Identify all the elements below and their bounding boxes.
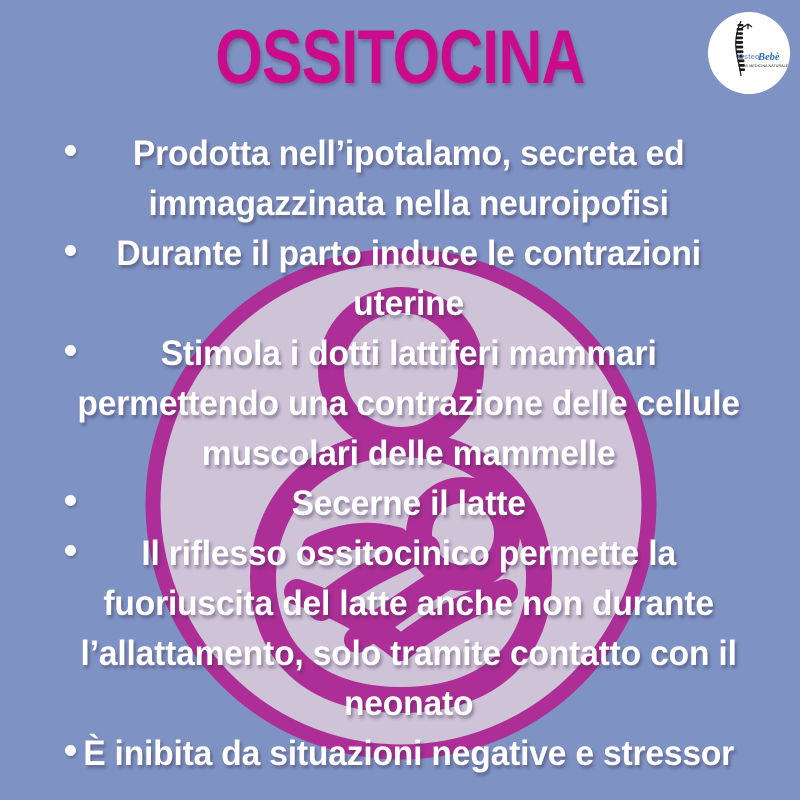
- list-item: Stimola i dotti lattiferi mammari permet…: [18, 329, 782, 479]
- list-item: Durante il parto induce le contrazioni u…: [18, 229, 782, 329]
- osteobebe-logo[interactable]: Osteo Bebè VIVI MEDICINA NATURALE: [708, 12, 790, 94]
- list-item: Secerne il latte: [18, 479, 782, 529]
- list-item-label: Il riflesso ossitocinico permette la fuo…: [33, 529, 766, 729]
- infographic-poster: Osteo Bebè VIVI MEDICINA NATURALE OSSITO…: [0, 0, 800, 800]
- list-item: È inibita da situazioni negative e stres…: [18, 729, 782, 779]
- page-title: OSSITOCINA: [80, 18, 720, 98]
- logo-wordmark-bebe: Bebè: [757, 52, 780, 63]
- logo-wordmark-osteo: Osteo: [738, 52, 760, 61]
- bullet-list: Prodotta nell’ipotalamo, secreta ed imma…: [0, 129, 800, 779]
- list-item: Prodotta nell’ipotalamo, secreta ed imma…: [18, 129, 782, 229]
- logo-tagline: VIVI MEDICINA NATURALE: [741, 64, 789, 68]
- list-item-label: Stimola i dotti lattiferi mammari permet…: [33, 329, 766, 479]
- list-item-label: Secerne il latte: [33, 479, 766, 529]
- list-item: Il riflesso ossitocinico permette la fuo…: [18, 529, 782, 729]
- list-item-label: Durante il parto induce le contrazioni u…: [33, 229, 766, 329]
- list-item-label: Prodotta nell’ipotalamo, secreta ed imma…: [33, 129, 766, 229]
- list-item-label: È inibita da situazioni negative e stres…: [33, 729, 766, 779]
